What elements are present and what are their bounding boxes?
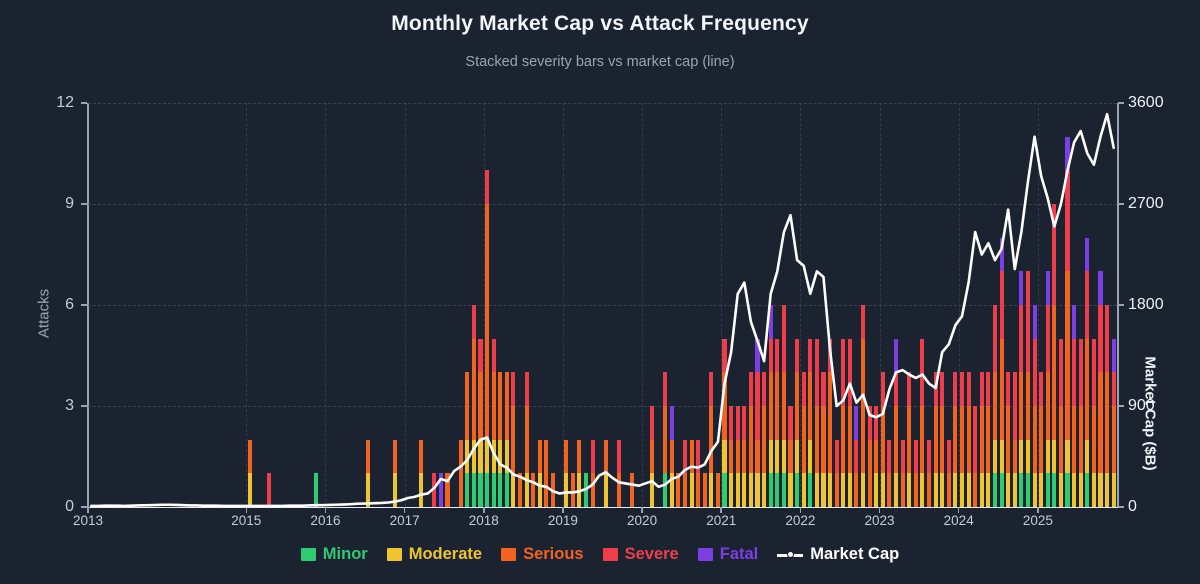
x-axis-tick-label: 2023: [865, 513, 895, 528]
y-axis-left-tick-label: 0: [14, 498, 74, 516]
plot-area: [88, 103, 1117, 507]
chart-legend: MinorModerateSeriousSevereFatalMarket Ca…: [0, 545, 1200, 564]
legend-swatch-moderate: [387, 548, 402, 561]
x-axis-tick-label: 2021: [706, 513, 736, 528]
x-axis-tick-label: 2015: [231, 513, 261, 528]
y-axis-right-tick-label: 2700: [1128, 195, 1164, 213]
y-axis-left-tick: [81, 405, 87, 407]
legend-item-serious[interactable]: Serious: [501, 545, 584, 564]
y-axis-left-tick: [81, 203, 87, 205]
legend-label: Serious: [523, 545, 584, 564]
legend-label: Severe: [625, 545, 679, 564]
legend-label: Minor: [323, 545, 368, 564]
x-axis-tick-label: 2020: [627, 513, 657, 528]
y-axis-left-tick: [81, 102, 87, 104]
chart-root: Monthly Market Cap vs Attack Frequency S…: [0, 0, 1200, 584]
legend-item-moderate[interactable]: Moderate: [387, 545, 482, 564]
market-cap-line-icon: [777, 548, 803, 561]
legend-swatch-severe: [603, 548, 618, 561]
y-axis-right-tick: [1118, 102, 1124, 104]
legend-item-minor[interactable]: Minor: [301, 545, 368, 564]
x-axis-tick-label: 2024: [944, 513, 974, 528]
legend-label: Fatal: [720, 545, 759, 564]
x-axis-tick-label: 2025: [1023, 513, 1053, 528]
y-axis-left-tick-label: 3: [14, 397, 74, 415]
y-axis-right-tick: [1118, 304, 1124, 306]
legend-swatch-minor: [301, 548, 316, 561]
y-axis-right-tick-label: 3600: [1128, 94, 1164, 112]
y-axis-right-tick: [1118, 203, 1124, 205]
y-axis-left-tick: [81, 506, 87, 508]
page-title: Monthly Market Cap vs Attack Frequency: [0, 12, 1200, 36]
y-axis-right-tick-label: 0: [1128, 498, 1137, 516]
y-axis-right-tick-label: 900: [1128, 397, 1155, 415]
x-axis-tick-label: 2022: [785, 513, 815, 528]
legend-label: Moderate: [409, 545, 482, 564]
y-axis-left-tick: [81, 304, 87, 306]
y-axis-left-tick-label: 12: [14, 94, 74, 112]
y-axis-right-tick: [1118, 506, 1124, 508]
legend-item-fatal[interactable]: Fatal: [698, 545, 759, 564]
y-axis-left-tick-label: 6: [14, 296, 74, 314]
market-cap-line-layer: [88, 103, 1117, 507]
x-axis-tick-label: 2017: [390, 513, 420, 528]
legend-item-market-cap[interactable]: Market Cap: [777, 545, 899, 564]
x-axis-tick-label: 2016: [310, 513, 340, 528]
y-axis-right-tick: [1118, 405, 1124, 407]
chart-subtitle: Stacked severity bars vs market cap (lin…: [0, 54, 1200, 70]
legend-swatch-fatal: [698, 548, 713, 561]
y-axis-right-tick-label: 1800: [1128, 296, 1164, 314]
market-cap-line: [91, 114, 1113, 506]
x-axis-tick-label: 2013: [73, 513, 103, 528]
legend-item-severe[interactable]: Severe: [603, 545, 679, 564]
y-axis-left-tick-label: 9: [14, 195, 74, 213]
legend-label: Market Cap: [810, 545, 899, 564]
x-axis-tick-label: 2018: [469, 513, 499, 528]
x-axis-tick-label: 2019: [548, 513, 578, 528]
legend-swatch-serious: [501, 548, 516, 561]
